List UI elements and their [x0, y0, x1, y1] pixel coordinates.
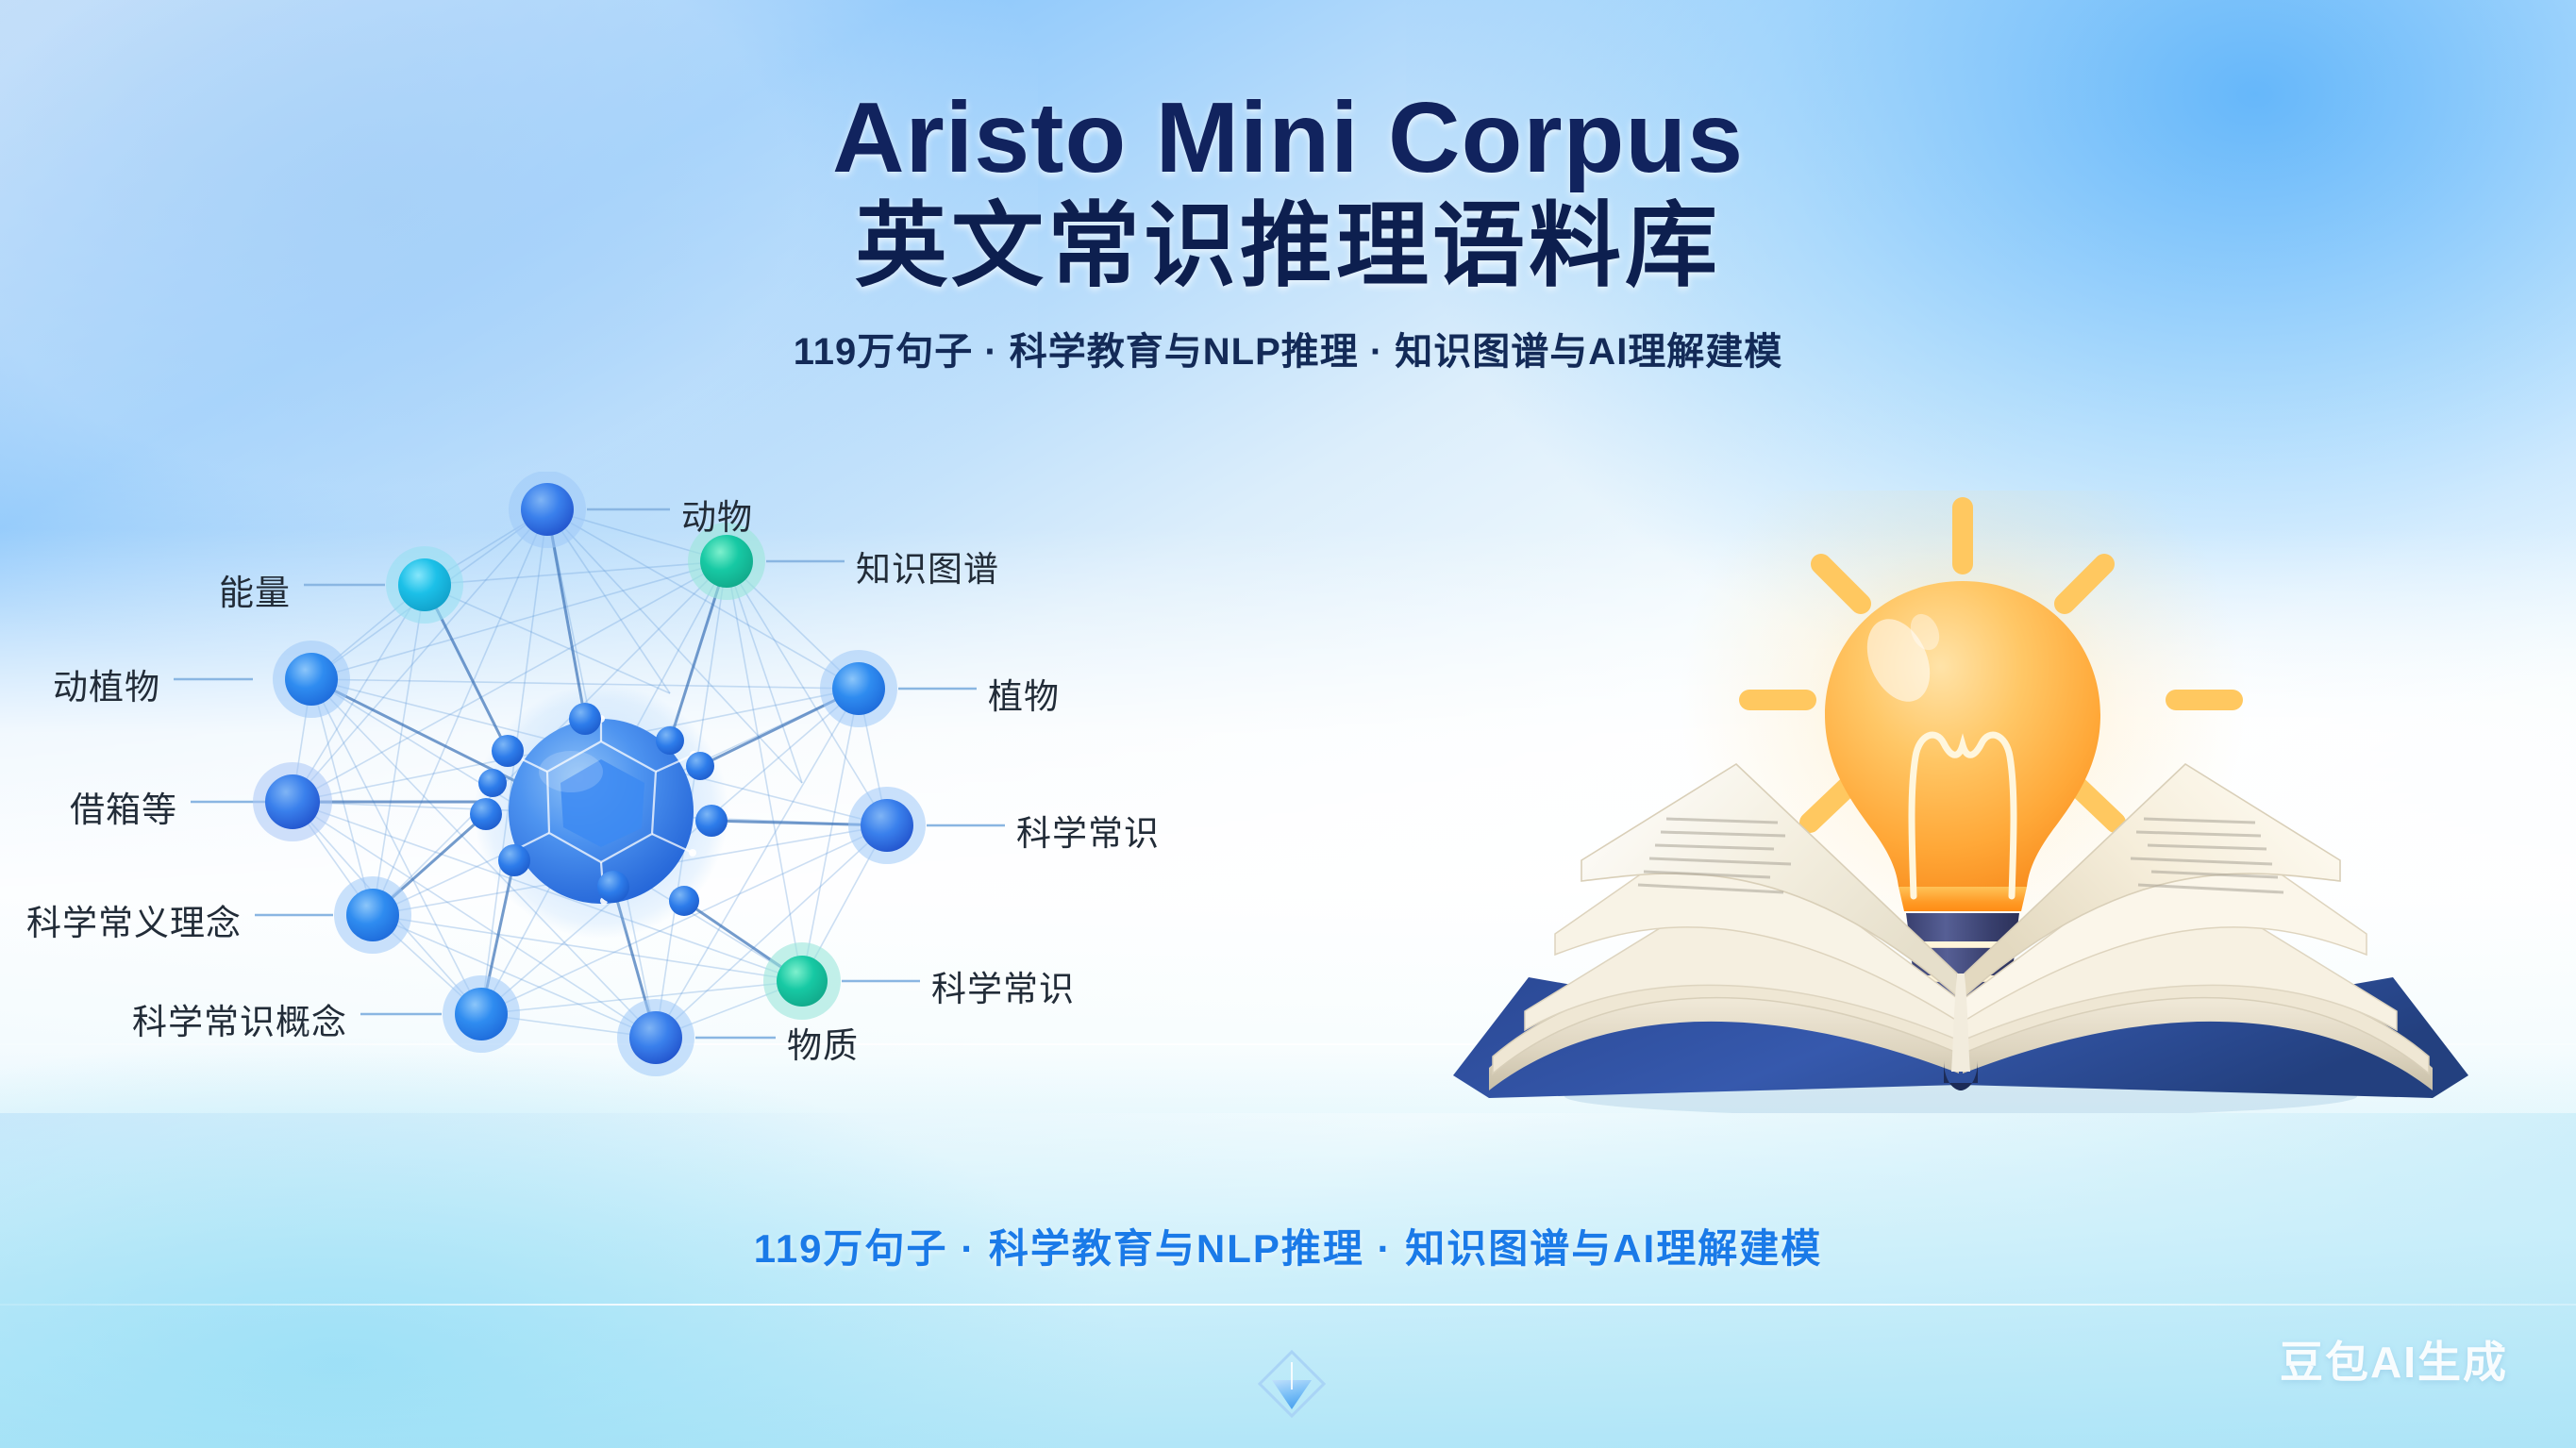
poster-canvas: Aristo Mini Corpus 英文常识推理语料库 119万句子 · 科学…	[0, 0, 2576, 1448]
graph-node-dongzhiwu	[273, 641, 350, 718]
knowledge-graph-diagram: 动物 知识图谱 植物 科学常识 科学常识 物质 科学常识概念 科学常义理念 借箱…	[142, 472, 1368, 1132]
header-block: Aristo Mini Corpus 英文常识推理语料库 119万句子 · 科学…	[0, 87, 2576, 375]
graph-label-wuzhi: 物质	[787, 1017, 859, 1068]
page-title-chinese: 英文常识推理语料库	[0, 196, 2576, 296]
graph-node-kexuechangshi-1	[848, 787, 926, 864]
graph-label-kexuechangshi-1: 科学常识	[1016, 805, 1160, 856]
horizontal-divider-lower	[0, 1304, 2576, 1306]
graph-label-kexuechangshi-2: 科学常识	[931, 960, 1075, 1011]
graph-label-zhishitupu: 知识图谱	[856, 541, 999, 591]
graph-node-dongwu	[509, 472, 586, 548]
bulb-and-book-illustration	[1434, 491, 2491, 1113]
graph-node-kexuechangshi-2	[763, 942, 841, 1020]
page-title-english: Aristo Mini Corpus	[0, 87, 2576, 189]
graph-node-jiexiangdeng	[253, 762, 332, 841]
page-subtitle: 119万句子 · 科学教育与NLP推理 · 知识图谱与AI理解建模	[0, 321, 2576, 375]
graph-node-zhiwu	[820, 650, 897, 727]
graph-node-wuzhi	[617, 999, 694, 1076]
graph-node-kexuechangyilinian	[334, 876, 411, 954]
graph-label-kexuechangshigainian: 科学常识概念	[132, 993, 347, 1044]
graph-label-dongwu: 动物	[681, 489, 753, 540]
graph-label-zhiwu: 植物	[988, 668, 1060, 719]
graph-node-nengliang	[386, 546, 463, 624]
graph-label-jiexiangdeng: 借箱等	[70, 781, 177, 832]
graph-label-dongzhiwu: 动植物	[53, 658, 160, 709]
footer-caption: 119万句子 · 科学教育与NLP推理 · 知识图谱与AI理解建模	[0, 1217, 2576, 1274]
illustration-svg	[1434, 491, 2491, 1113]
graph-node-kexuechangshigainian	[443, 975, 520, 1053]
diamond-icon	[1255, 1347, 1329, 1421]
graph-label-nengliang: 能量	[219, 564, 291, 615]
graph-label-kexuechangyilinian: 科学常义理念	[26, 894, 242, 945]
watermark-label: 豆包AI生成	[2280, 1328, 2508, 1390]
